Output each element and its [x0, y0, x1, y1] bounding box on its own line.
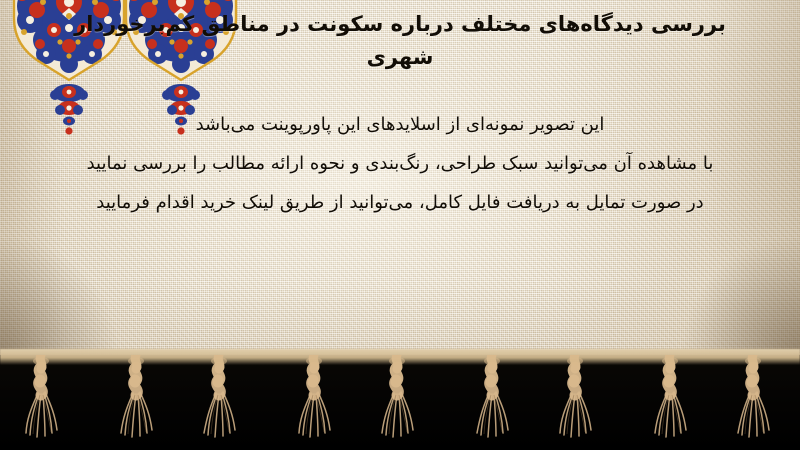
carpet-tassel: [374, 355, 420, 441]
carpet-tassel: [730, 355, 776, 441]
slide-body-line-1: این تصویر نمونه‌ای از اسلایدهای این پاور…: [0, 105, 800, 144]
slide-title-line-2: شهری: [0, 41, 800, 74]
carpet-tassel: [552, 355, 598, 441]
slide-body-line-2: با مشاهده آن می‌توانید سبک طراحی، رنگ‌بن…: [0, 144, 800, 183]
carpet-tassel: [113, 355, 159, 441]
slide-body-line-3: در صورت تمایل به دریافت فایل کامل، می‌تو…: [0, 183, 800, 222]
canvas-corner-shadow-right: [680, 235, 800, 355]
canvas-corner-shadow-left: [0, 235, 120, 355]
carpet-tassel: [469, 355, 515, 441]
carpet-tassel: [196, 355, 242, 441]
slide-canvas: بررسی دیدگاه‌های مختلف درباره سکونت در م…: [0, 0, 800, 450]
carpet-tassel: [18, 355, 64, 441]
carpet-tassel: [647, 355, 693, 441]
slide-body-text: این تصویر نمونه‌ای از اسلایدهای این پاور…: [0, 105, 800, 222]
carpet-tassel: [291, 355, 337, 441]
slide-title-line-1: بررسی دیدگاه‌های مختلف درباره سکونت در م…: [0, 8, 800, 41]
carpet-fringe-band: [0, 355, 800, 450]
carpet-fringe-tassels: [0, 355, 800, 450]
slide-title: بررسی دیدگاه‌های مختلف درباره سکونت در م…: [0, 8, 800, 74]
